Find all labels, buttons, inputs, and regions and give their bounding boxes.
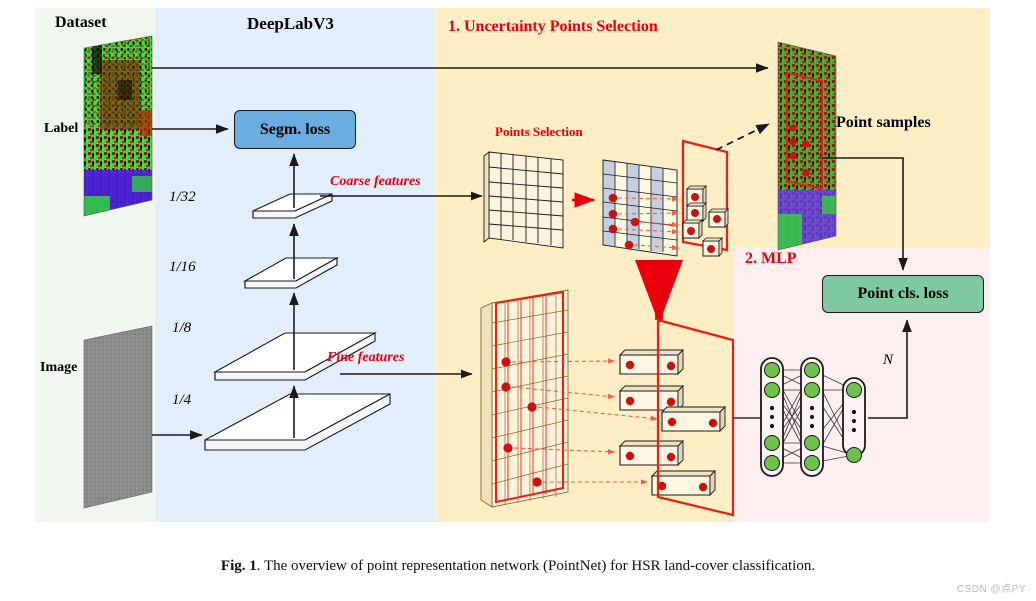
points-selection-caption: Points Selection [495,124,583,140]
mlp-n-label: N [883,352,893,369]
image-plane-caption: Image [40,360,77,376]
scale-label-1-16: 1/16 [169,259,196,276]
label-plane-caption: Label [44,121,78,137]
segm-loss-box[interactable]: Segm. loss [234,110,356,149]
panel-title-mlp: 2. MLP [745,250,797,268]
panel-deeplab [155,8,435,522]
panel-title-uncertainty: 1. Uncertainty Points Selection [448,18,658,36]
figure-caption-text: . The overview of point representation n… [257,558,815,574]
watermark: CSDN @点PY [957,580,1026,595]
coarse-features-label: Coarse features [330,174,421,190]
panel-dataset [35,8,155,522]
scale-label-1-32: 1/32 [169,189,196,206]
figure-caption: Fig. 1. The overview of point representa… [0,558,1036,575]
point-samples-caption: Point samples [836,114,931,132]
scale-label-1-4: 1/4 [172,392,191,409]
point-cls-loss-box[interactable]: Point cls. loss [822,275,984,313]
fine-features-label: Fine features [327,350,404,366]
panel-title-deeplab: DeepLabV3 [247,14,334,34]
scale-label-1-8: 1/8 [172,320,191,337]
panel-title-dataset: Dataset [55,14,107,32]
figure-canvas: Dataset DeepLabV3 1. Uncertainty Points … [0,0,1036,601]
figure-caption-prefix: Fig. 1 [221,558,257,574]
